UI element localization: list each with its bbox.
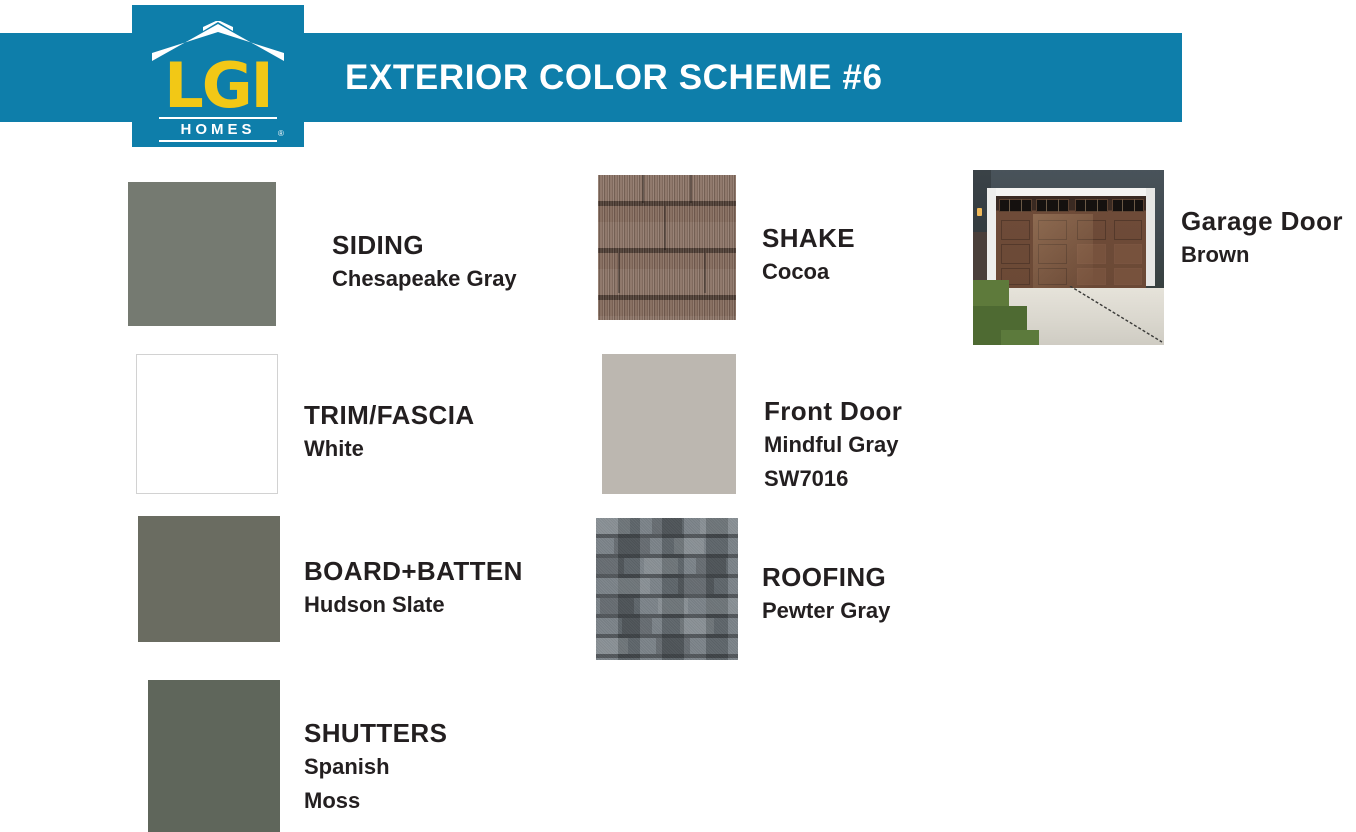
lgi-homes-logo: LGI HOMES ® (132, 5, 304, 147)
swatch-text-roofing: ROOFING Pewter Gray (762, 560, 890, 628)
logo-registered-mark: ® (278, 129, 284, 138)
swatch-name-roofing: ROOFING (762, 560, 890, 594)
swatch-text-siding: SIDING Chesapeake Gray (332, 228, 517, 296)
swatch-entry-garage-door: Garage Door Brown (973, 170, 1356, 345)
swatch-entry-trim-fascia: TRIM/FASCIA White (136, 354, 606, 494)
swatch-entry-siding: SIDING Chesapeake Gray (128, 182, 598, 326)
swatch-entry-board-batten: BOARD+BATTEN Hudson Slate (138, 516, 618, 642)
page-title: EXTERIOR COLOR SCHEME #6 (345, 54, 1165, 102)
logo-wordmark: HOMES (158, 121, 278, 138)
swatch-color-shutters (148, 680, 280, 832)
swatch-color-name-front-door: Mindful Gray SW7016 (764, 428, 902, 496)
swatch-entry-shutters: SHUTTERS Spanish Moss (148, 680, 618, 832)
swatch-text-trim-fascia: TRIM/FASCIA White (304, 398, 475, 466)
swatch-photo-garage-door (973, 170, 1164, 345)
swatch-text-shake: SHAKE Cocoa (762, 221, 855, 289)
logo-rule-bottom (159, 140, 277, 142)
swatch-color-name-roofing: Pewter Gray (762, 594, 890, 628)
logo-letters: LGI (132, 55, 304, 117)
swatch-color-siding (128, 182, 276, 326)
swatch-name-front-door: Front Door (764, 394, 902, 428)
swatch-color-name-garage-door: Brown (1181, 238, 1343, 272)
swatch-color-board-batten (138, 516, 280, 642)
swatch-name-trim-fascia: TRIM/FASCIA (304, 398, 475, 432)
swatch-name-garage-door: Garage Door (1181, 204, 1343, 238)
swatch-text-board-batten: BOARD+BATTEN Hudson Slate (304, 554, 523, 622)
swatch-text-garage-door: Garage Door Brown (1181, 204, 1343, 272)
logo-rule-top (159, 117, 277, 119)
swatch-name-shutters: SHUTTERS (304, 716, 447, 750)
swatch-color-name-board-batten: Hudson Slate (304, 588, 523, 622)
driveway-seam (1068, 286, 1164, 345)
swatch-color-front-door (602, 354, 736, 494)
swatch-text-front-door: Front Door Mindful Gray SW7016 (764, 394, 902, 496)
swatch-color-name-siding: Chesapeake Gray (332, 262, 517, 296)
swatch-texture-roofing (596, 518, 738, 660)
page-header: EXTERIOR COLOR SCHEME #6 LGI HOMES ® (0, 0, 1356, 152)
swatch-text-shutters: SHUTTERS Spanish Moss (304, 716, 447, 818)
swatch-name-shake: SHAKE (762, 221, 855, 255)
swatch-color-trim-fascia (136, 354, 278, 494)
swatch-name-board-batten: BOARD+BATTEN (304, 554, 523, 588)
swatch-entry-roofing: ROOFING Pewter Gray (596, 518, 1036, 660)
swatch-texture-shake (598, 175, 736, 320)
swatch-entry-shake: SHAKE Cocoa (598, 175, 1038, 320)
swatch-color-name-shake: Cocoa (762, 255, 855, 289)
swatch-color-name-trim-fascia: White (304, 432, 475, 466)
swatch-entry-front-door: Front Door Mindful Gray SW7016 (602, 354, 1042, 496)
logo-wordmark-group: HOMES (158, 117, 278, 142)
swatch-color-name-shutters: Spanish Moss (304, 750, 447, 818)
swatch-name-siding: SIDING (332, 228, 517, 262)
